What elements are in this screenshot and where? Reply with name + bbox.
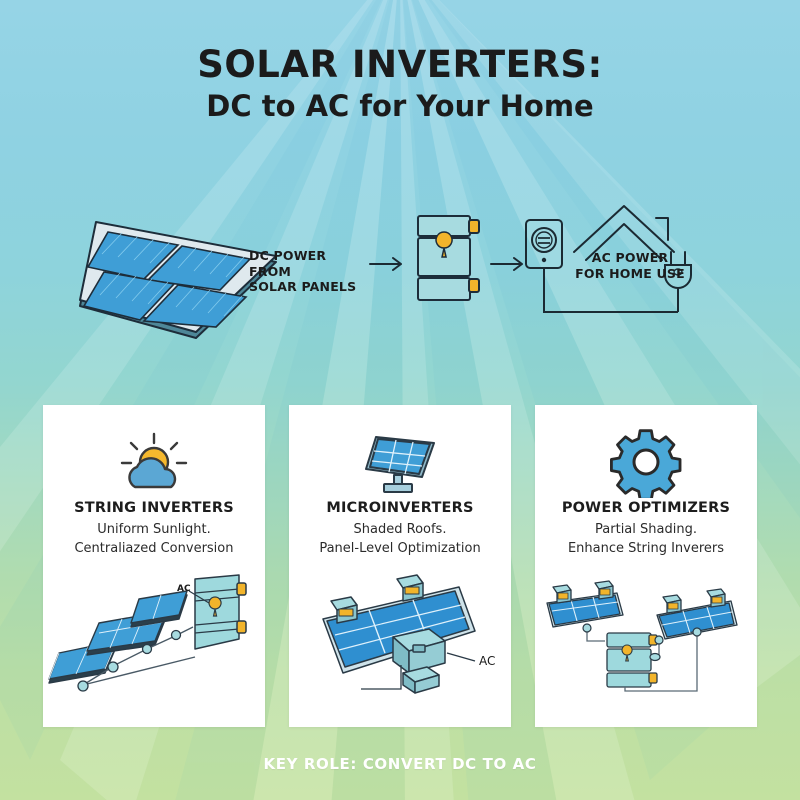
panels-with-microinverters: AC [289,565,511,715]
footer-text: KEY ROLE: CONVERT DC TO AC [264,755,537,773]
page-title: SOLAR INVERTERS: DC to AC for Your Home [0,46,800,121]
panels-series-to-string-inverter: AC [43,565,265,715]
footer-band: KEY ROLE: CONVERT DC TO AC [0,727,800,800]
title-line-1: SOLAR INVERTERS: [0,46,800,83]
dc-power-label: DC POWER FROM SOLAR PANELS [249,248,359,295]
card-illustration: AC [43,565,265,725]
card-microinverters[interactable]: MICROINVERTERS Shaded Roofs. Panel-Level… [289,405,511,727]
card-icon-wrap [535,425,757,499]
card-subtitle: Uniform Sunlight. Centraliazed Conversio… [49,521,259,559]
panels-with-optimizers-to-inverter [535,565,757,715]
inverter-type-cards: STRING INVERTERS Uniform Sunlight. Centr… [43,405,757,727]
card-icon-wrap [289,425,511,499]
card-title: STRING INVERTERS [43,500,265,516]
card-illustration [535,565,757,725]
title-line-2: DC to AC for Your Home [0,92,800,121]
sun-behind-cloud-icon [111,429,197,495]
card-title: MICROINVERTERS [289,500,511,516]
card-subtitle: Partial Shading. Enhance String Inverers [541,521,751,559]
card-title: POWER OPTIMIZERS [535,500,757,516]
ac-power-label: AC POWER FOR HOME USE [570,250,690,281]
infographic-root: SOLAR INVERTERS: DC to AC for Your Home [0,0,800,800]
card-subtitle: Shaded Roofs. Panel-Level Optimization [295,521,505,559]
flow-diagram: DC POWER FROM SOLAR PANELS [0,190,800,360]
arrow-right-icon [368,255,408,273]
gear-icon [610,426,682,498]
inverter-box-icon [414,212,486,304]
card-art-label: AC [479,654,495,668]
card-icon-wrap [43,425,265,499]
card-power-optimizers[interactable]: POWER OPTIMIZERS Partial Shading. Enhanc… [535,405,757,727]
solar-panel-on-stand-icon [358,427,442,497]
card-illustration: AC [289,565,511,725]
card-string-inverters[interactable]: STRING INVERTERS Uniform Sunlight. Centr… [43,405,265,727]
card-art-label: AC [177,584,191,594]
